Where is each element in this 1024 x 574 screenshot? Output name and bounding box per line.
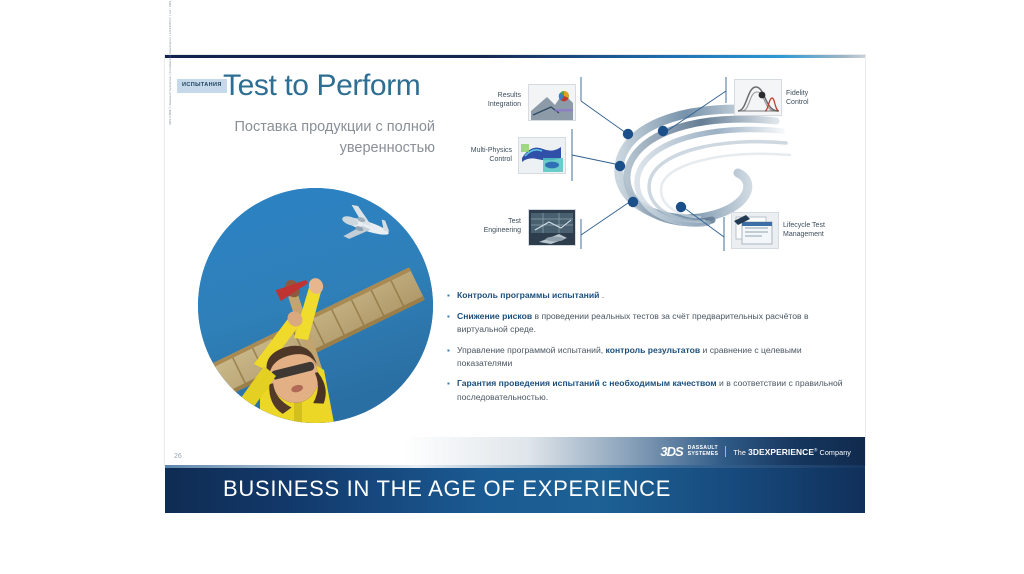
diagram-label-multi-physics-control: Multi-Physics Control	[450, 146, 512, 165]
lifecycle-test-thumbnail	[731, 212, 779, 249]
diagram-label-results-integration: Results Integration	[463, 91, 521, 110]
slide-title: Test to Perform	[223, 71, 420, 101]
test-engineering-thumbnail	[528, 209, 576, 246]
slide-viewer: 3DS.COM © Dassault Systemes | Confidenti…	[0, 0, 1024, 574]
diagram-label-fidelity-control: Fidelity Control	[786, 89, 850, 108]
slide-footer: 3DS DASSAULT SYSTEMES The 3DEXPERIENCE® …	[165, 437, 865, 465]
tagline-prefix: The	[733, 448, 748, 457]
list-item: ▪ Гарантия проведения испытаний с необхо…	[447, 377, 855, 404]
swoosh-graphic	[619, 109, 790, 224]
capability-diagram: Results Integration Multi-Physics Contro…	[450, 69, 860, 269]
bullet-marker: ▪	[447, 289, 457, 303]
tagline-experience: EXPERIENCE	[759, 447, 814, 457]
brand-divider	[725, 446, 726, 457]
banner-highlight-rule	[165, 465, 865, 468]
tagline-3d: 3D	[748, 447, 759, 457]
bullet-marker: ▪	[447, 344, 457, 358]
diagram-label-test-engineering: Test Engineering	[465, 217, 521, 236]
bullet-text: Снижение рисков в проведении реальных те…	[457, 310, 855, 337]
brand-tagline: The 3DEXPERIENCE® Company	[733, 447, 851, 457]
multi-physics-thumbnail	[518, 137, 566, 174]
bullet-text: Контроль программы испытаний .	[457, 289, 855, 302]
presentation-slide: 3DS.COM © Dassault Systemes | Confidenti…	[165, 55, 865, 465]
slide-top-rule	[165, 55, 865, 58]
dassault-systemes-brand-lockup: 3DS DASSAULT SYSTEMES The 3DEXPERIENCE® …	[660, 444, 851, 459]
hero-photo-circle	[198, 188, 433, 423]
bottom-banner: BUSINESS IN THE AGE OF EXPERIENCE	[165, 465, 865, 513]
confidential-notice: 3DS.COM © Dassault Systemes | Confidenti…	[168, 0, 172, 125]
bullet-marker: ▪	[447, 377, 457, 391]
dassault-systemes-logo-icon: 3DS	[660, 444, 682, 459]
bullet-marker: ▪	[447, 310, 457, 324]
brand-wordmark-line2: SYSTEMES	[688, 451, 719, 457]
list-item: ▪ Снижение рисков в проведении реальных …	[447, 310, 855, 337]
page-number: 26	[174, 453, 182, 460]
list-item: ▪ Контроль программы испытаний .	[447, 289, 855, 303]
benefits-list: ▪ Контроль программы испытаний . ▪ Сниже…	[447, 289, 855, 411]
bullet-text: Управление программой испытаний, контрол…	[457, 344, 855, 371]
brand-wordmark: DASSAULT SYSTEMES	[688, 446, 719, 458]
results-integration-thumbnail	[528, 84, 576, 121]
fidelity-control-thumbnail	[734, 79, 782, 116]
slide-subtitle: Поставка продукции с полной уверенностью	[200, 117, 435, 158]
bullet-text: Гарантия проведения испытаний с необходи…	[457, 377, 855, 404]
diagram-label-lifecycle-test-management: Lifecycle Test Management	[783, 221, 855, 240]
tagline-suffix: Company	[817, 448, 851, 457]
section-eyebrow-badge: ИСПЫТАНИЯ	[177, 79, 227, 93]
list-item: ▪ Управление программой испытаний, контр…	[447, 344, 855, 371]
banner-text: BUSINESS IN THE AGE OF EXPERIENCE	[223, 476, 671, 502]
